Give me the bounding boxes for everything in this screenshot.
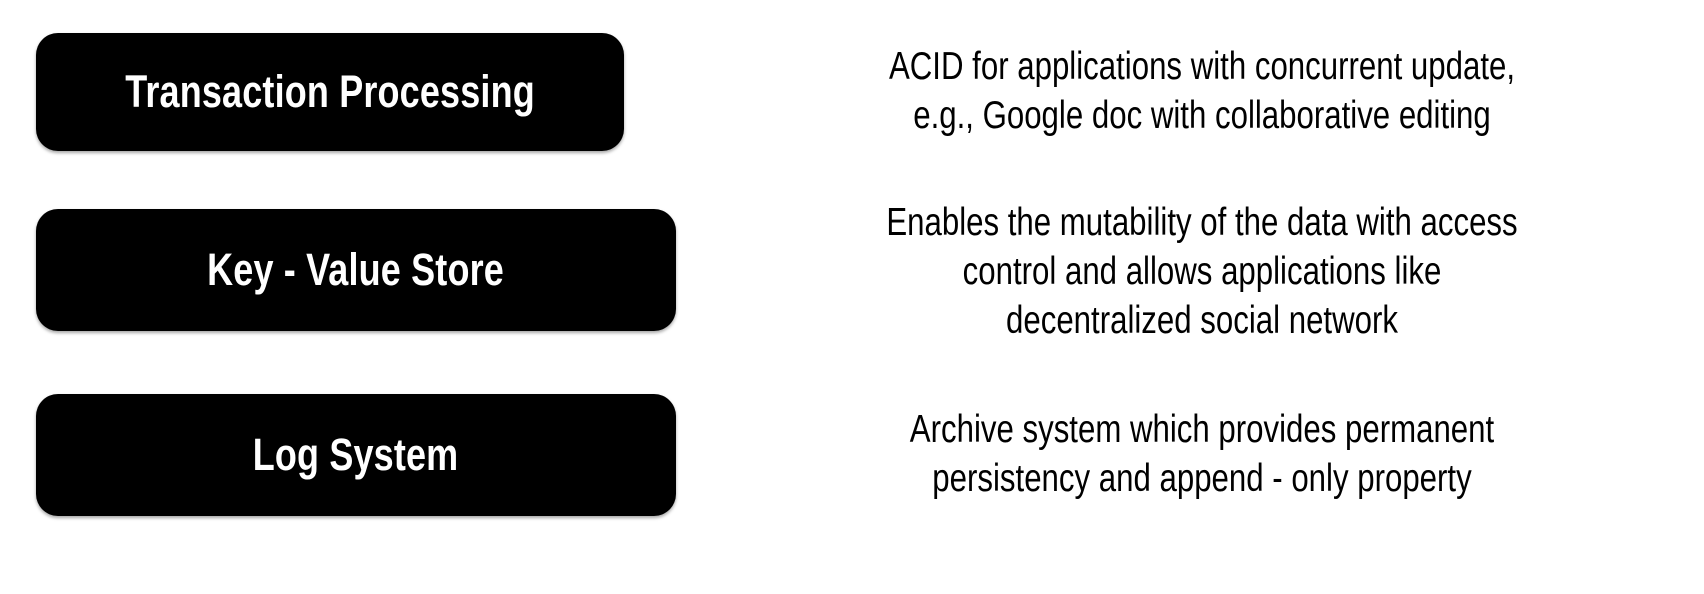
description-transaction-processing: ACID for applications with concurrent up… [800, 42, 1603, 140]
pill-key-value-store[interactable]: Key - Value Store [36, 209, 676, 331]
description-key-value-store: Enables the mutability of the data with … [800, 198, 1603, 345]
description-log-system: Archive system which provides permanent … [800, 405, 1603, 503]
pill-label-log-system: Log System [253, 431, 459, 478]
slide-canvas: Transaction Processing ACID for applicat… [0, 0, 1704, 594]
pill-transaction-processing[interactable]: Transaction Processing [36, 33, 624, 151]
pill-label-transaction-processing: Transaction Processing [125, 68, 535, 115]
pill-label-key-value-store: Key - Value Store [208, 246, 505, 293]
pill-log-system[interactable]: Log System [36, 394, 676, 516]
